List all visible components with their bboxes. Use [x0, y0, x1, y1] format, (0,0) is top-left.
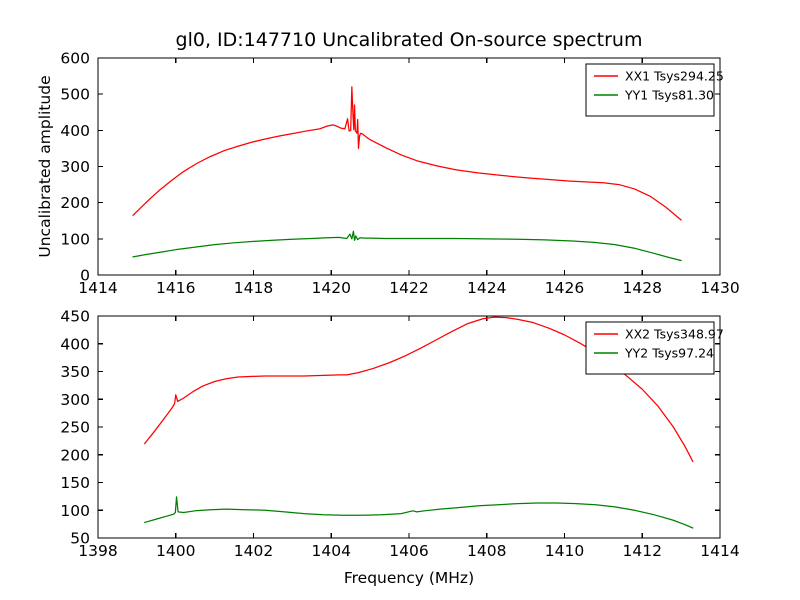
- legend-label: XX2 Tsys348.97: [625, 327, 724, 342]
- x-tick-label: 1404: [312, 542, 351, 560]
- bottom-panel-svg: 1398140014021404140614081410141214145010…: [0, 300, 800, 600]
- y-axis-label: Uncalibrated amplitude: [36, 75, 54, 257]
- series-line-yy1: [133, 231, 681, 260]
- legend: XX2 Tsys348.97YY2 Tsys97.24: [586, 322, 724, 374]
- x-axis-label: Frequency (MHz): [344, 569, 474, 587]
- legend-label: YY2 Tsys97.24: [624, 346, 714, 361]
- x-tick-label: 1422: [389, 279, 428, 297]
- y-tick-label: 300: [60, 158, 90, 176]
- top-spectrum-panel: gl0, ID:147710 Uncalibrated On-source sp…: [0, 0, 800, 300]
- x-tick-label: 1402: [234, 542, 273, 560]
- y-tick-label: 50: [70, 530, 90, 548]
- x-tick-label: 1428: [623, 279, 662, 297]
- figure-canvas: gl0, ID:147710 Uncalibrated On-source sp…: [0, 0, 800, 600]
- x-tick-label: 1418: [234, 279, 273, 297]
- y-tick-label: 300: [60, 391, 90, 409]
- y-tick-label: 100: [60, 230, 90, 248]
- y-tick-label: 100: [60, 502, 90, 520]
- x-tick-label: 1424: [467, 279, 506, 297]
- y-tick-label: 150: [60, 474, 90, 492]
- x-tick-label: 1420: [312, 279, 351, 297]
- legend: XX1 Tsys294.25YY1 Tsys81.30: [586, 64, 724, 116]
- x-tick-label: 1414: [700, 542, 739, 560]
- y-tick-label: 250: [60, 419, 90, 437]
- y-tick-label: 200: [60, 446, 90, 464]
- y-tick-label: 400: [60, 122, 90, 140]
- y-tick-label: 0: [80, 267, 90, 285]
- legend-label: XX1 Tsys294.25: [625, 69, 724, 84]
- x-tick-label: 1400: [156, 542, 195, 560]
- legend-label: YY1 Tsys81.30: [624, 88, 714, 103]
- y-tick-label: 400: [60, 335, 90, 353]
- y-tick-label: 450: [60, 308, 90, 326]
- top-panel-svg: gl0, ID:147710 Uncalibrated On-source sp…: [0, 0, 800, 300]
- x-tick-label: 1412: [623, 542, 662, 560]
- y-tick-label: 600: [60, 50, 90, 68]
- bottom-spectrum-panel: 1398140014021404140614081410141214145010…: [0, 300, 800, 600]
- x-tick-label: 1430: [700, 279, 739, 297]
- x-tick-label: 1408: [467, 542, 506, 560]
- y-tick-label: 500: [60, 86, 90, 104]
- x-tick-label: 1406: [389, 542, 428, 560]
- y-tick-label: 200: [60, 194, 90, 212]
- x-tick-label: 1426: [545, 279, 584, 297]
- x-tick-label: 1410: [545, 542, 584, 560]
- y-tick-label: 350: [60, 363, 90, 381]
- plot-title: gl0, ID:147710 Uncalibrated On-source sp…: [176, 29, 643, 51]
- x-tick-label: 1416: [156, 279, 195, 297]
- series-line-yy2: [145, 497, 693, 528]
